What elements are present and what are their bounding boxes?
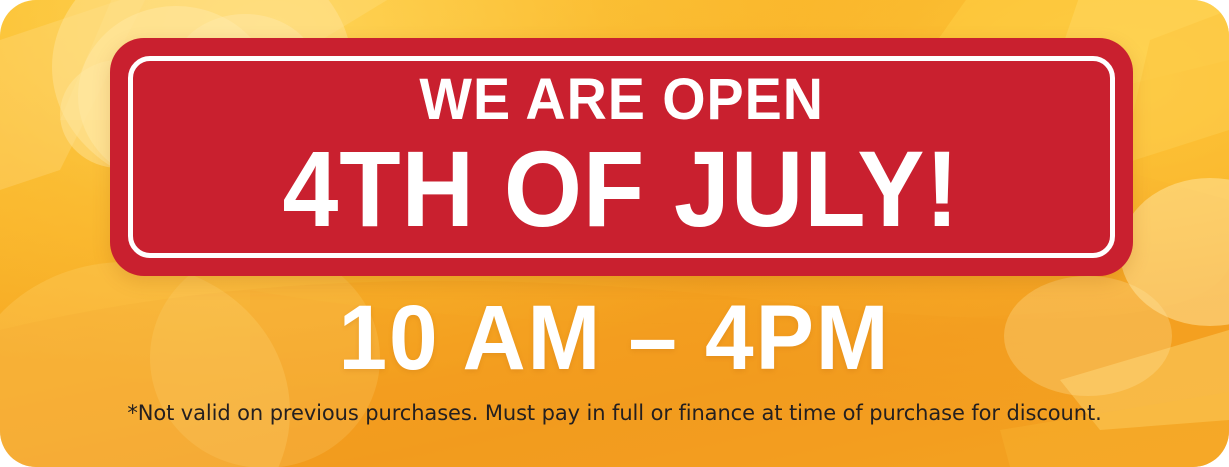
promotional-banner: WE ARE OPEN 4TH OF JULY! 10 AM – 4PM *No… <box>0 0 1229 467</box>
sign-text-container: WE ARE OPEN 4TH OF JULY! <box>110 38 1133 276</box>
sign-eyebrow-text: WE ARE OPEN <box>419 71 823 129</box>
red-sign-panel: WE ARE OPEN 4TH OF JULY! <box>110 38 1133 276</box>
store-hours-text: 10 AM – 4PM <box>31 292 1199 384</box>
disclaimer-text: *Not valid on previous purchases. Must p… <box>0 400 1229 426</box>
sign-headline-text: 4TH OF JULY! <box>283 135 960 243</box>
